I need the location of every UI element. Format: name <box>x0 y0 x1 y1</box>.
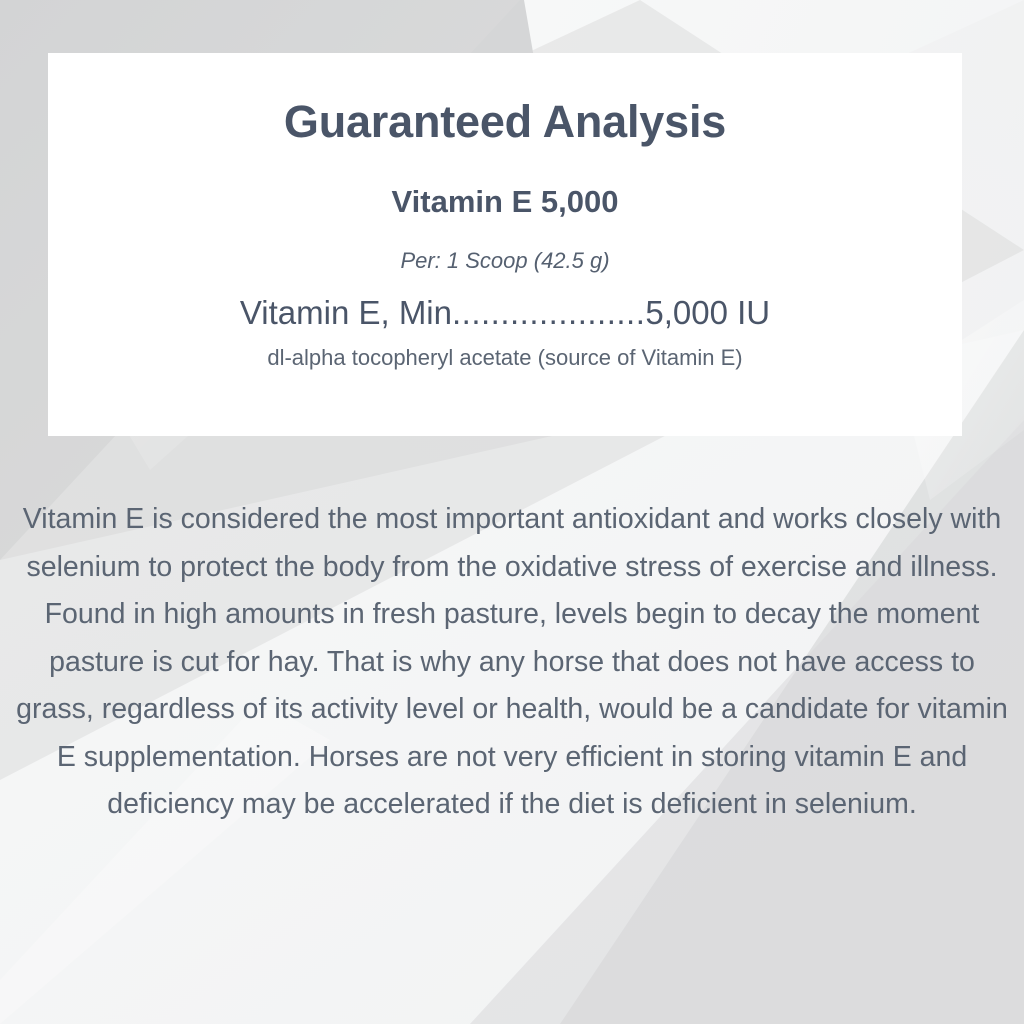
nutrient-value: 5,000 IU <box>645 294 770 331</box>
description-text: Vitamin E is considered the most importa… <box>14 496 1010 829</box>
page-title: Guaranteed Analysis <box>88 97 922 147</box>
description-block: Vitamin E is considered the most importa… <box>14 496 1010 829</box>
guaranteed-analysis-card: Guaranteed Analysis Vitamin E 5,000 Per:… <box>48 53 962 436</box>
page-content: Guaranteed Analysis Vitamin E 5,000 Per:… <box>0 0 1024 1024</box>
nutrient-row: Vitamin E, Min....................5,000 … <box>88 294 922 332</box>
nutrient-label: Vitamin E, Min <box>240 294 452 331</box>
serving-size-label: Per: 1 Scoop (42.5 g) <box>88 249 922 273</box>
product-name: Vitamin E 5,000 <box>88 185 922 219</box>
nutrient-dot-leader: .................... <box>452 294 645 331</box>
nutrient-source-note: dl-alpha tocopheryl acetate (source of V… <box>88 345 922 371</box>
